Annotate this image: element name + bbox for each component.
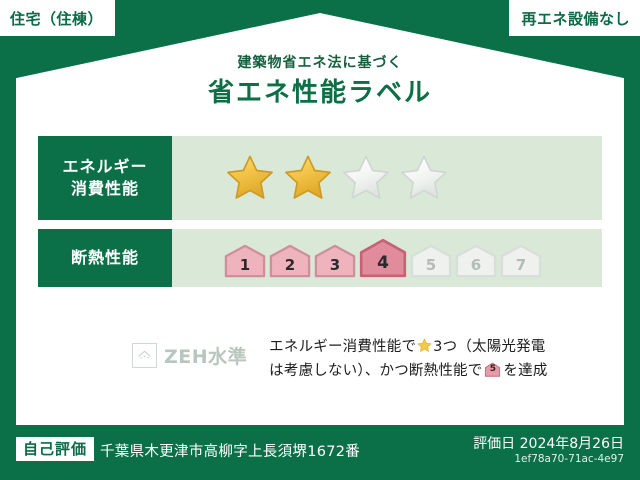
insulation-performance-row: 断熱性能 1234567 — [38, 229, 602, 287]
zeh-mark: ZEH水準 — [132, 342, 247, 369]
zeh-house-icon — [132, 343, 157, 368]
property-address: 千葉県木更津市高柳字上長須堺1672番 — [100, 440, 360, 461]
star-icon-filled — [282, 153, 334, 203]
energy-label-line2: 消費性能 — [71, 178, 139, 200]
zeh-desc-part2: 3つ（太陽光発電 — [433, 339, 545, 355]
energy-label-line1: エネルギー — [62, 156, 147, 178]
insulation-badge-3: 3 — [314, 244, 356, 278]
inline-badge-number: 5 — [484, 362, 501, 377]
self-evaluation-badge: 自己評価 — [16, 437, 94, 461]
star-icon-empty — [340, 153, 392, 203]
insulation-performance-label: 断熱性能 — [38, 229, 172, 287]
insulation-row-body: 1234567 — [172, 229, 602, 287]
building-type-tag: 住宅（住棟） — [0, 0, 115, 36]
zeh-block: ZEH水準 エネルギー消費性能で3つ（太陽光発電は考慮しない）、かつ断熱性能で5… — [132, 336, 555, 384]
insulation-badge-1: 1 — [224, 244, 266, 278]
insulation-level-badges: 1234567 — [224, 238, 542, 278]
performance-rows: エネルギー 消費性能 断熱性能 1234567 — [38, 136, 602, 296]
insulation-badge-5: 5 — [410, 244, 452, 278]
evaluation-id: 1ef78a70-71ac-4e97 — [514, 453, 624, 465]
title-block: 建築物省エネ法に基づく 省エネ性能ラベル — [0, 55, 640, 109]
zeh-desc-part1: エネルギー消費性能で — [269, 339, 416, 355]
zeh-desc-part3: は考慮しない）、かつ断熱性能で — [269, 363, 482, 379]
insulation-badge-7: 7 — [500, 244, 542, 278]
star-icon-filled — [224, 153, 276, 203]
insulation-label-line1: 断熱性能 — [71, 247, 139, 269]
insulation-badge-4: 4 — [359, 238, 407, 278]
zeh-description: エネルギー消費性能で3つ（太陽光発電は考慮しない）、かつ断熱性能で5を達成 — [269, 336, 555, 384]
energy-performance-row: エネルギー 消費性能 — [38, 136, 602, 220]
inline-insulation-badge: 5 — [484, 362, 501, 377]
insulation-badge-2: 2 — [269, 244, 311, 278]
insulation-badge-6: 6 — [455, 244, 497, 278]
star-rating — [172, 136, 602, 220]
evaluation-date: 評価日 2024年8月26日 — [473, 433, 624, 453]
zeh-desc-part4: を達成 — [503, 363, 547, 379]
zeh-label: ZEH水準 — [164, 342, 247, 369]
inline-star-icon — [417, 338, 432, 353]
footer-bar: 自己評価 千葉県木更津市高柳字上長須堺1672番 評価日 2024年8月26日 … — [0, 425, 640, 480]
title-main: 省エネ性能ラベル — [0, 78, 640, 109]
renewable-energy-tag: 再エネ設備なし — [509, 0, 640, 36]
energy-performance-label: エネルギー 消費性能 — [38, 136, 172, 220]
title-subtitle: 建築物省エネ法に基づく — [0, 55, 640, 72]
star-icon-empty — [398, 153, 450, 203]
energy-performance-label: 住宅（住棟） 再エネ設備なし 建築物省エネ法に基づく 省エネ性能ラベル エネルギ… — [0, 0, 640, 480]
